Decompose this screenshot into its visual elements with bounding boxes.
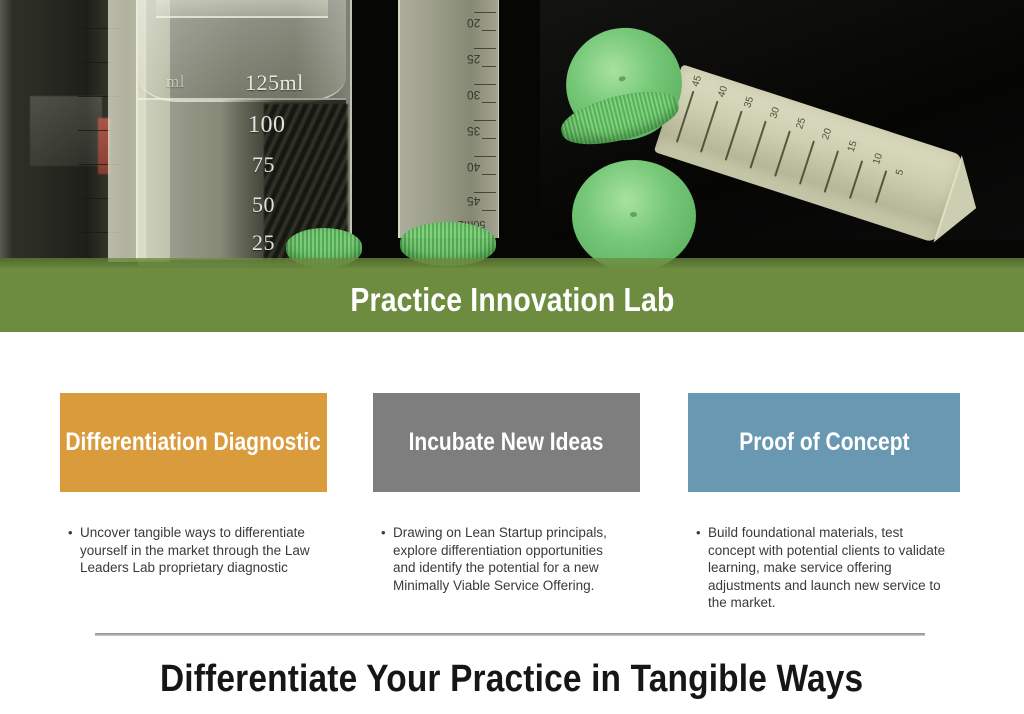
cap-dimple-icon: [618, 76, 626, 83]
column-body-1: • Uncover tangible ways to differentiate…: [60, 524, 327, 577]
tall-tube-scale: 20 25 30 35 40 45 50mL: [462, 0, 498, 238]
cylinder-label-patch: [30, 96, 102, 166]
slide: 125ml ml 100 75 50 25 20 25 30 35 40: [0, 0, 1024, 714]
tilted-tube-tick: [824, 150, 839, 192]
column-proof-of-concept: Proof of Concept • Build foundational ma…: [688, 393, 960, 612]
tilted-tube-tick: [799, 140, 815, 184]
tube-graduation-35: 35: [467, 124, 480, 138]
tilted-tube-tick: [849, 160, 863, 199]
tube-tick: [482, 174, 496, 175]
bullet-text: Drawing on Lean Startup principals, expl…: [393, 524, 623, 594]
tilted-graduation-40: 40: [716, 85, 730, 99]
footer-section: Differentiate Your Practice in Tangible …: [0, 648, 1024, 710]
tilted-graduation-45: 45: [690, 74, 704, 88]
tube-tick: [474, 48, 496, 49]
tilted-graduation-20: 20: [820, 127, 834, 141]
cap-dimple-icon: [630, 212, 637, 217]
tilted-graduation-25: 25: [794, 116, 808, 130]
page-title: Practice Innovation Lab: [350, 281, 674, 319]
tube-tick: [474, 156, 496, 157]
jar-neck: [156, 0, 328, 18]
tube-tick: [482, 66, 496, 67]
tube-tick: [474, 120, 496, 121]
green-cap-loose-lower: [572, 160, 696, 270]
column-header-box-3[interactable]: Proof of Concept: [688, 393, 960, 492]
column-body-2: • Drawing on Lean Startup principals, ex…: [373, 524, 640, 594]
column-header-box-1[interactable]: Differentiation Diagnostic: [60, 393, 327, 492]
tube-graduation-45: 45: [467, 194, 480, 208]
tube-graduation-25: 25: [467, 52, 480, 66]
tube-tick: [482, 102, 496, 103]
column-heading-2: Incubate New Ideas: [409, 429, 604, 457]
tilted-tube-tick: [875, 170, 887, 203]
tube-tick: [474, 192, 496, 193]
hero-image: 125ml ml 100 75 50 25 20 25 30 35 40: [0, 0, 1024, 270]
bullet-icon: •: [68, 524, 80, 542]
tube-tick: [482, 210, 496, 211]
tilted-graduation-15: 15: [846, 139, 860, 153]
column-heading-3: Proof of Concept: [739, 429, 909, 457]
tilted-tube-tick: [700, 101, 719, 153]
tube-tick: [474, 84, 496, 85]
tilted-graduation-30: 30: [768, 106, 782, 120]
tilted-graduation-10: 10: [871, 152, 885, 166]
cylinder-tick: [78, 130, 112, 131]
tube-graduation-20: 20: [467, 16, 480, 30]
tilted-tube-tick: [774, 130, 791, 176]
list-item: • Uncover tangible ways to differentiate…: [68, 524, 327, 577]
tilted-graduation-35: 35: [742, 95, 756, 109]
title-band: Practice Innovation Lab: [0, 268, 1024, 332]
column-heading-1: Differentiation Diagnostic: [66, 429, 322, 457]
tilted-tube-tick: [725, 111, 743, 161]
tube-graduation-30: 30: [467, 88, 480, 102]
bullet-text: Uncover tangible ways to differentiate y…: [80, 524, 322, 577]
column-differentiation-diagnostic: Differentiation Diagnostic • Uncover tan…: [60, 393, 327, 577]
footer-headline: Differentiate Your Practice in Tangible …: [160, 658, 863, 701]
tube-tick: [482, 138, 496, 139]
tube-tick: [482, 30, 496, 31]
tube-tick: [474, 12, 496, 13]
cylinder-tick: [78, 62, 112, 63]
bullet-icon: •: [381, 524, 393, 542]
horizontal-divider: [95, 633, 925, 636]
tilted-tube-tick: [749, 121, 766, 169]
column-body-3: • Build foundational materials, test con…: [688, 524, 960, 612]
list-item: • Build foundational materials, test con…: [696, 524, 960, 612]
column-incubate-new-ideas: Incubate New Ideas • Drawing on Lean Sta…: [373, 393, 640, 594]
bullet-icon: •: [696, 524, 708, 542]
cylinder-tick: [78, 198, 112, 199]
tube-graduation-40: 40: [467, 160, 480, 174]
list-item: • Drawing on Lean Startup principals, ex…: [381, 524, 640, 594]
bullet-text: Build foundational materials, test conce…: [708, 524, 946, 612]
tilted-graduation-5: 5: [894, 168, 906, 177]
column-header-box-2[interactable]: Incubate New Ideas: [373, 393, 640, 492]
